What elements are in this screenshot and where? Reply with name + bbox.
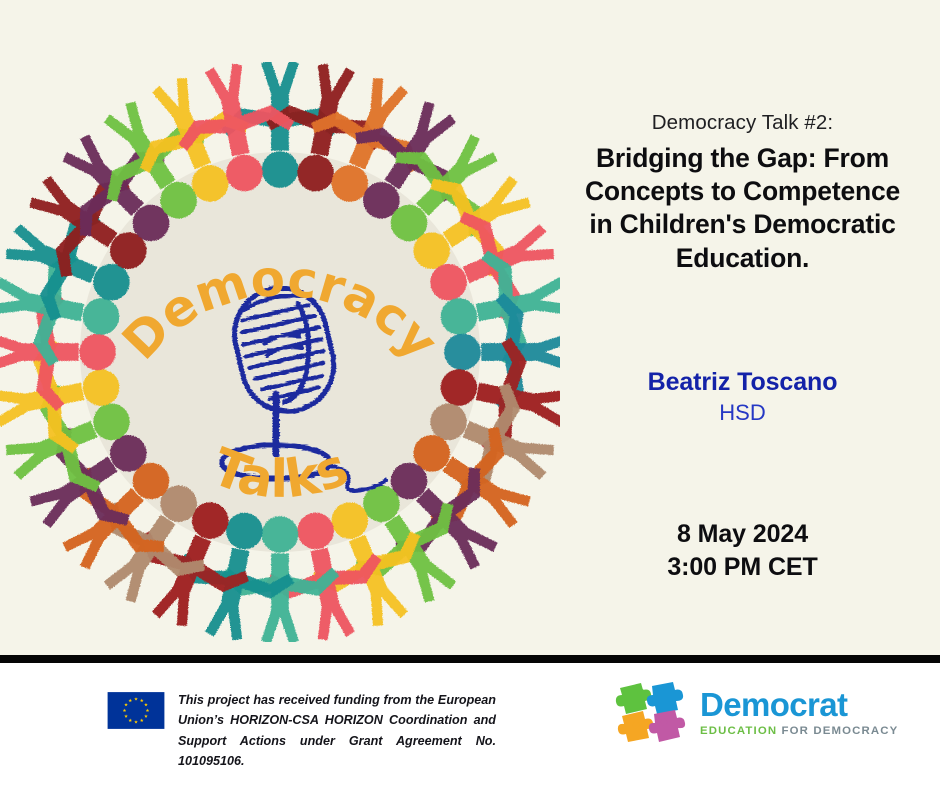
democrat-puzzle-icon: [614, 678, 688, 748]
talk-kicker: Democracy Talk #2:: [545, 110, 940, 136]
eu-funding-line: Support Actions under Grant Agreement No…: [178, 731, 496, 772]
poster-canvas: Democracy Talks Democracy Talk #2: Bridg…: [0, 0, 940, 788]
talk-title-line: Concepts to Competence: [545, 175, 940, 208]
eu-funding-line: This project has received funding from t…: [178, 690, 496, 710]
eu-funding-line: Union’s HORIZON-CSA HORIZON Coordination…: [178, 710, 496, 730]
democrat-tagline: EDUCATION FOR DEMOCRACY: [700, 726, 898, 737]
event-date: 8 May 2024: [545, 518, 940, 551]
talk-title-line: Bridging the Gap: From: [545, 142, 940, 175]
talk-title-line: in Children's Democratic: [545, 208, 940, 241]
section-divider: [0, 655, 940, 663]
speaker-block: Beatriz Toscano HSD: [545, 368, 940, 426]
democrat-wordmark: Democrat: [700, 688, 898, 721]
democrat-tagline-highlight: EDUCATION: [700, 725, 777, 737]
eu-funding-text: This project has received funding from t…: [178, 690, 496, 772]
democrat-tagline-rest: FOR DEMOCRACY: [777, 725, 898, 737]
event-time: 3:00 PM CET: [545, 551, 940, 584]
event-datetime-block: 8 May 2024 3:00 PM CET: [545, 518, 940, 584]
speaker-name: Beatriz Toscano: [545, 368, 940, 397]
speaker-affiliation: HSD: [545, 400, 940, 426]
democracy-talks-logo-svg: Democracy Talks: [0, 62, 560, 642]
eu-funding-block: This project has received funding from t…: [106, 690, 496, 772]
democrat-project-logo: Democrat EDUCATION FOR DEMOCRACY: [614, 678, 898, 748]
democrat-wordmark-block: Democrat EDUCATION FOR DEMOCRACY: [700, 688, 898, 737]
democracy-talks-logo: Democracy Talks: [0, 62, 560, 642]
talk-title: Bridging the Gap: FromConcepts to Compet…: [545, 142, 940, 276]
talk-title-line: Education.: [545, 242, 940, 275]
european-union-flag-icon: [106, 690, 166, 731]
talk-text-column: Democracy Talk #2: Bridging the Gap: Fro…: [545, 110, 940, 275]
